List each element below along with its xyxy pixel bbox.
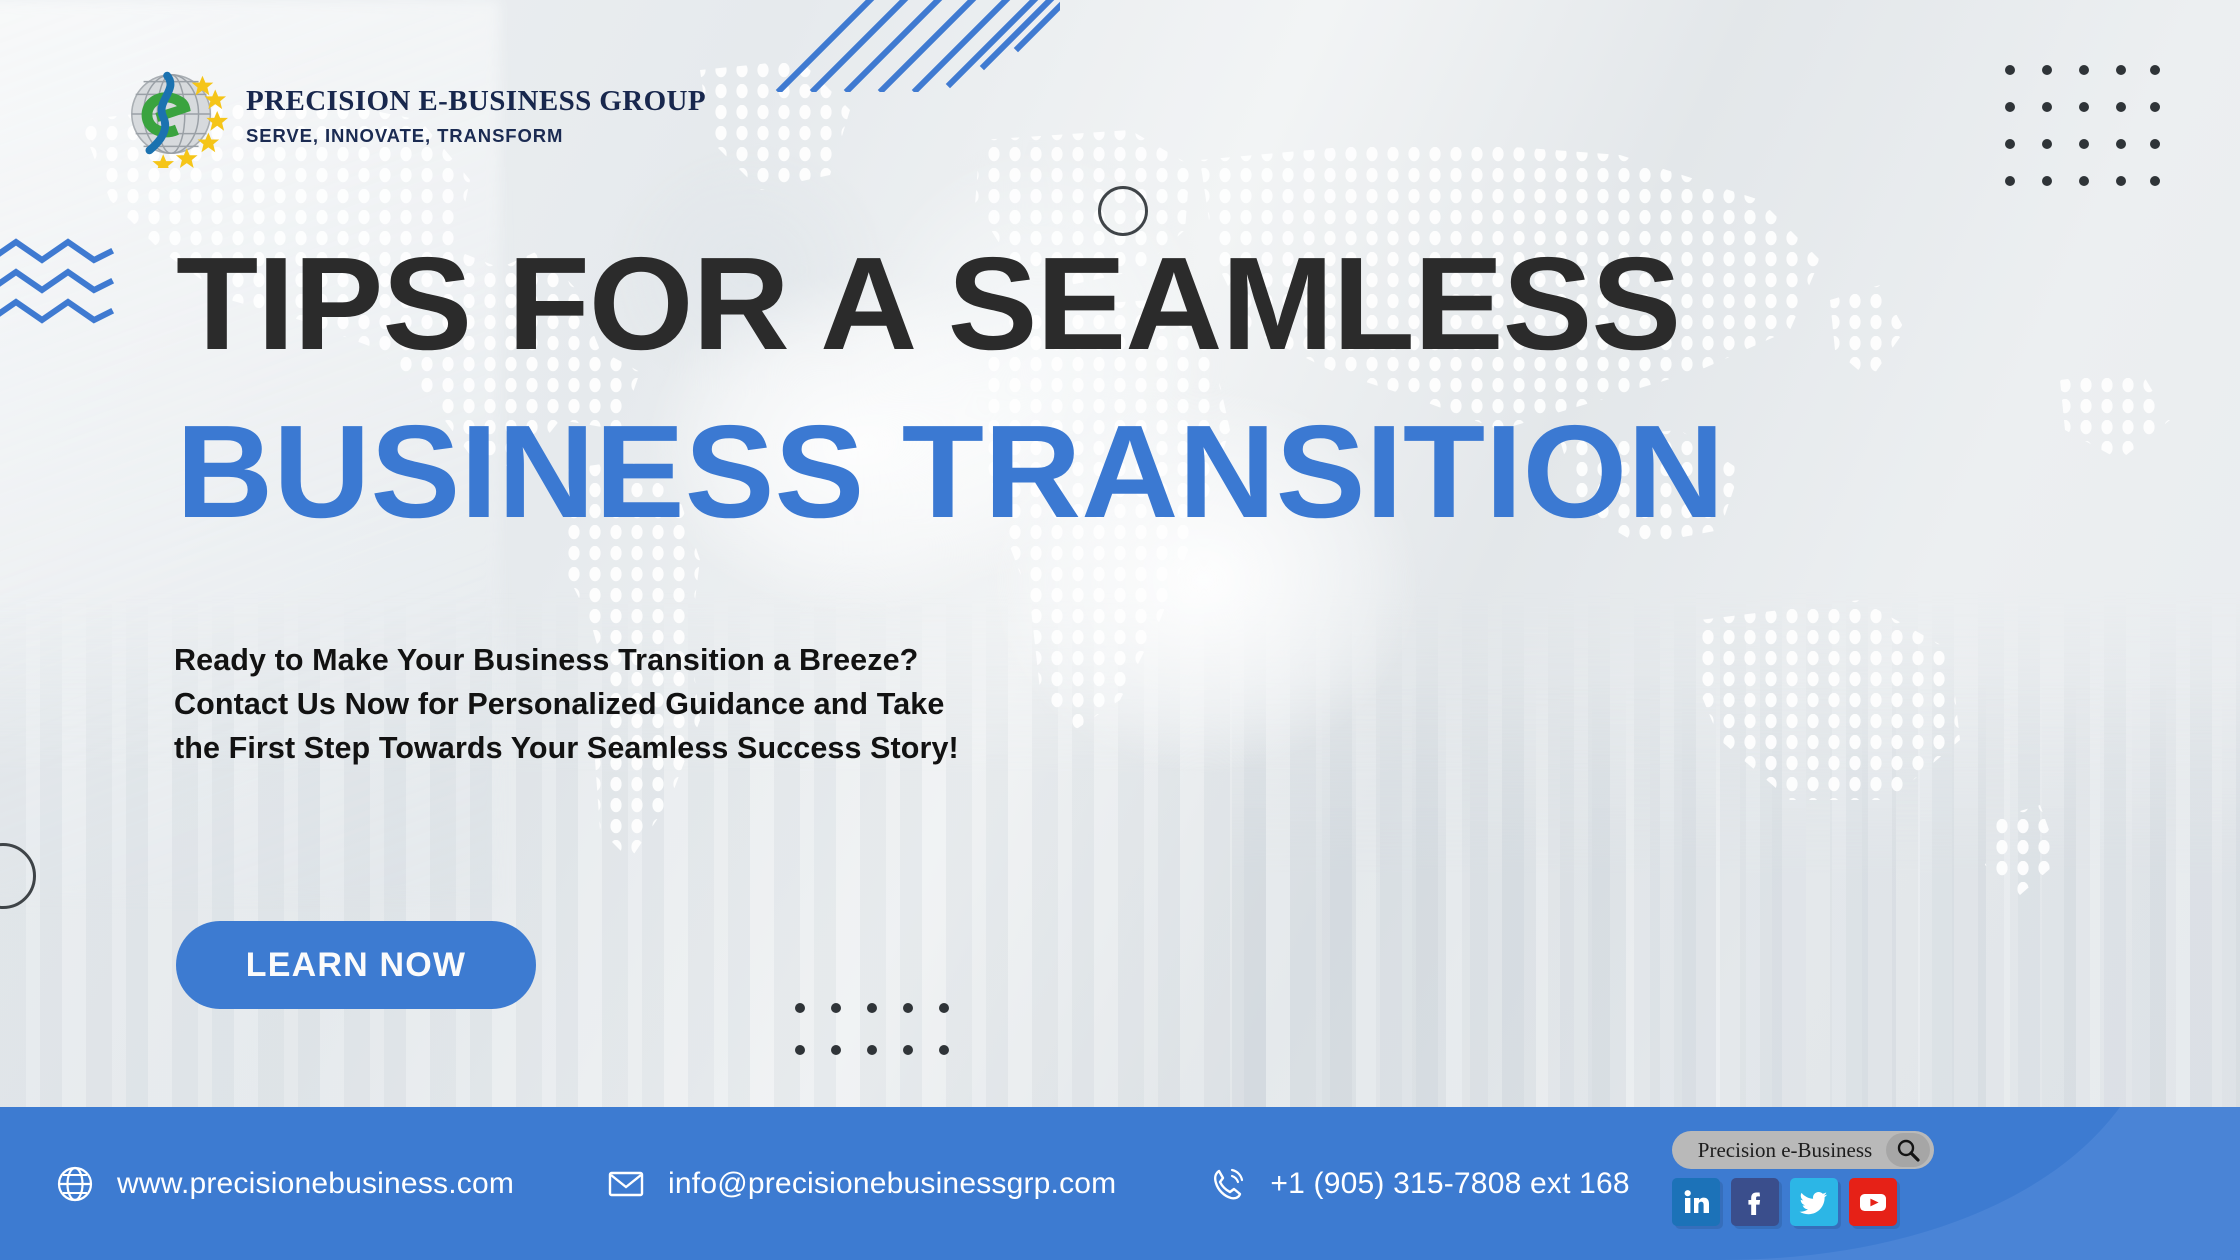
dot-grid-decoration-top-right bbox=[2000, 60, 2160, 205]
lede-line-2: Contact Us Now for Personalized Guidance… bbox=[174, 682, 959, 726]
lede-line-3: the First Step Towards Your Seamless Suc… bbox=[174, 726, 959, 770]
headline-line-2: BUSINESS TRANSITION bbox=[176, 406, 1725, 538]
outline-circle-decoration-top bbox=[1098, 186, 1148, 236]
globe-e-stars-logo-icon bbox=[120, 60, 228, 168]
phone-icon bbox=[1208, 1164, 1248, 1204]
search-input[interactable]: Precision e-Business bbox=[1672, 1131, 1934, 1169]
blue-zigzag-decoration bbox=[0, 238, 114, 328]
contact-phone[interactable]: +1 (905) 315-7808 ext 168 bbox=[1208, 1164, 1629, 1204]
linkedin-icon bbox=[1681, 1187, 1711, 1217]
lede-paragraph: Ready to Make Your Business Transition a… bbox=[174, 638, 959, 771]
linkedin-button[interactable] bbox=[1672, 1178, 1720, 1226]
search-icon bbox=[1895, 1137, 1921, 1163]
globe-icon bbox=[55, 1164, 95, 1204]
youtube-button[interactable] bbox=[1849, 1178, 1897, 1226]
website-text: www.precisionebusiness.com bbox=[117, 1167, 514, 1201]
brand-tagline: SERVE, INNOVATE, TRANSFORM bbox=[246, 125, 706, 147]
social-icons bbox=[1672, 1178, 1934, 1226]
contact-row: www.precisionebusiness.com info@precisio… bbox=[55, 1107, 1630, 1260]
lede-line-1: Ready to Make Your Business Transition a… bbox=[174, 638, 959, 682]
diagonal-stripes-decoration bbox=[770, 0, 1060, 92]
search-button[interactable] bbox=[1886, 1133, 1930, 1167]
youtube-icon bbox=[1857, 1186, 1889, 1218]
facebook-button[interactable] bbox=[1731, 1178, 1779, 1226]
facebook-icon bbox=[1740, 1187, 1770, 1217]
envelope-icon bbox=[606, 1164, 646, 1204]
brand-title: PRECISION E-BUSINESS GROUP bbox=[246, 85, 706, 118]
twitter-button[interactable] bbox=[1790, 1178, 1838, 1226]
headline: TIPS FOR A SEAMLESS BUSINESS TRANSITION bbox=[176, 238, 1694, 538]
twitter-icon bbox=[1799, 1187, 1829, 1217]
social-block: Precision e-Business bbox=[1672, 1131, 1934, 1226]
learn-now-button[interactable]: LEARN NOW bbox=[176, 921, 536, 1009]
phone-text: +1 (905) 315-7808 ext 168 bbox=[1270, 1167, 1629, 1201]
contact-website[interactable]: www.precisionebusiness.com bbox=[55, 1164, 514, 1204]
dot-grid-decoration-bottom-center bbox=[792, 1000, 957, 1060]
contact-email[interactable]: info@precisionebusinessgrp.com bbox=[606, 1164, 1116, 1204]
search-value: Precision e-Business bbox=[1684, 1138, 1886, 1163]
email-text: info@precisionebusinessgrp.com bbox=[668, 1167, 1116, 1201]
marketing-banner: PRECISION E-BUSINESS GROUP SERVE, INNOVA… bbox=[0, 0, 2240, 1260]
headline-line-1: TIPS FOR A SEAMLESS bbox=[176, 238, 1725, 370]
brand-logo[interactable]: PRECISION E-BUSINESS GROUP SERVE, INNOVA… bbox=[120, 60, 706, 168]
